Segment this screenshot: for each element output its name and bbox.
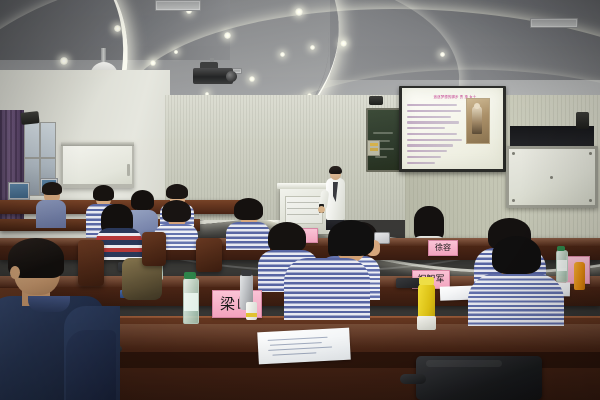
presenter-body [326, 178, 345, 220]
downlight [60, 57, 68, 65]
attendee-torso-front [284, 258, 370, 320]
attendee-torso [36, 200, 66, 228]
attendee-torso-front [468, 274, 564, 326]
foreground-attendee-collar [28, 296, 70, 312]
presenter-hair [329, 166, 342, 174]
downlight [150, 60, 156, 66]
orange-juice-bottle [574, 262, 585, 290]
wall-speaker-icon [576, 112, 589, 129]
downlight [224, 32, 231, 39]
foreground-attendee-ear [10, 266, 20, 279]
attendee-torso [226, 222, 270, 250]
attendee-hair [162, 200, 191, 222]
attendee-hair [131, 190, 154, 210]
downlight [310, 45, 315, 50]
desktop-monitor [8, 182, 30, 200]
air-vent [155, 0, 201, 11]
bottle-cap [419, 277, 434, 285]
attendee-hair [234, 198, 263, 220]
projector-lens-icon [226, 71, 237, 82]
attendee-hair [42, 182, 62, 195]
attendee-hair [328, 220, 374, 256]
thermos-cap [241, 270, 252, 276]
air-vent [530, 18, 578, 28]
bottle-label [417, 316, 436, 330]
projection-screen: 追逐梦想的脚步 贾 惠 女士 [402, 88, 503, 169]
downlight [295, 8, 303, 16]
chair-back [142, 232, 166, 266]
pill-bottle-label [246, 313, 257, 317]
foreground-attendee-arm [66, 330, 116, 400]
lectern-top [277, 183, 331, 189]
bottle-cap [557, 246, 565, 251]
wall-speaker-icon [20, 111, 39, 125]
bag-handle [400, 374, 426, 384]
attendee-hair [166, 184, 188, 199]
downlight [114, 25, 121, 32]
wall-speaker-icon [369, 96, 383, 105]
attendee-hair [268, 222, 306, 252]
name-card-xurong: 徐容 [428, 240, 458, 256]
laptop-bag [416, 356, 542, 400]
whiteboard-right-surface [509, 149, 595, 205]
lecture-hall-photo: 追逐梦想的脚步 贾 惠 女士 [0, 0, 600, 400]
bottle-cap [184, 272, 196, 279]
presenter-hand [318, 206, 325, 213]
handout-papers [257, 328, 351, 365]
av-control-panel[interactable] [367, 140, 380, 156]
pill-bottle [246, 302, 257, 320]
whiteboard-surface [63, 146, 132, 184]
water-bottle [183, 278, 199, 324]
chair-back [78, 240, 104, 286]
downlight [340, 40, 347, 47]
whiteboard-pen [127, 164, 130, 176]
downlight [440, 52, 445, 57]
downlight [280, 52, 285, 57]
whiteboard-rail [61, 142, 134, 146]
chair-back [196, 238, 222, 272]
slide-bullet-lines [407, 104, 463, 168]
downlight [249, 76, 255, 82]
water-bottle [556, 250, 568, 282]
slide-portrait-photo [466, 98, 490, 144]
attendee-hair [93, 185, 114, 201]
attendee-hair [492, 236, 541, 274]
downlight [174, 50, 178, 54]
